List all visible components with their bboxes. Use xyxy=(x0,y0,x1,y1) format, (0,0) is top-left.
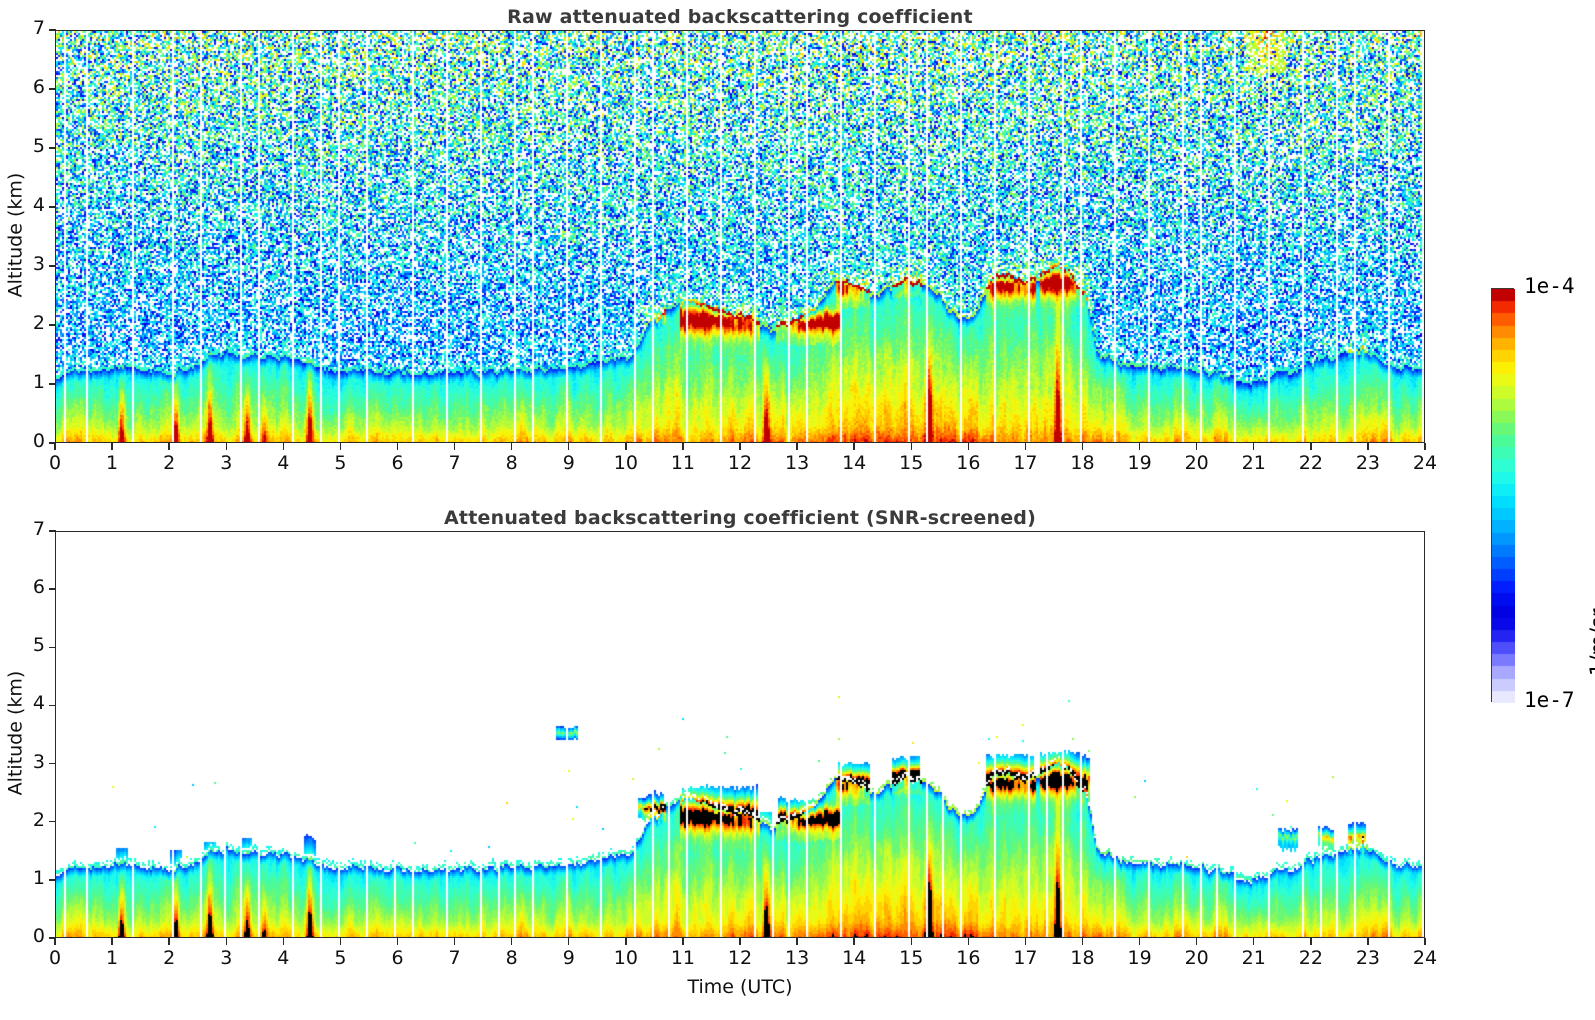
x-tick-mark xyxy=(1424,443,1425,450)
x-tick-label: 6 xyxy=(378,452,418,474)
colorbar[interactable] xyxy=(1491,288,1514,702)
x-tick-mark xyxy=(911,938,912,945)
y-tick-label: 6 xyxy=(11,576,45,598)
x-tick-label: 14 xyxy=(834,947,874,969)
x-tick-mark xyxy=(1310,938,1311,945)
x-tick-mark xyxy=(168,443,169,450)
x-tick-mark xyxy=(397,938,398,945)
x-tick-label: 21 xyxy=(1234,947,1274,969)
panel-title-raw: Raw attenuated backscattering coefficien… xyxy=(55,6,1425,28)
heatmap-panel-screened[interactable] xyxy=(55,531,1425,938)
x-tick-mark xyxy=(1196,938,1197,945)
x-tick-mark xyxy=(54,443,55,450)
x-tick-label: 24 xyxy=(1405,947,1445,969)
x-tick-mark xyxy=(568,938,569,945)
x-tick-mark xyxy=(111,938,112,945)
x-tick-mark xyxy=(511,938,512,945)
colorbar-max-label: 1e-4 xyxy=(1524,274,1575,298)
heatmap-canvas-screened xyxy=(56,532,1425,938)
y-tick-mark xyxy=(49,88,56,89)
x-tick-label: 7 xyxy=(435,947,475,969)
x-tick-mark xyxy=(283,443,284,450)
x-tick-label: 2 xyxy=(149,947,189,969)
y-tick-label: 0 xyxy=(11,430,45,452)
x-tick-mark xyxy=(568,443,569,450)
x-tick-mark xyxy=(682,938,683,945)
x-tick-label: 8 xyxy=(492,947,532,969)
y-tick-label: 2 xyxy=(11,312,45,334)
x-tick-mark xyxy=(1139,443,1140,450)
colorbar-canvas xyxy=(1492,289,1515,703)
x-tick-label: 22 xyxy=(1291,947,1331,969)
x-tick-label: 24 xyxy=(1405,452,1445,474)
x-tick-mark xyxy=(1310,443,1311,450)
heatmap-panel-raw[interactable] xyxy=(55,30,1425,443)
x-tick-mark xyxy=(1196,443,1197,450)
x-tick-label: 23 xyxy=(1348,452,1388,474)
y-tick-label: 7 xyxy=(11,17,45,39)
x-tick-mark xyxy=(796,938,797,945)
x-tick-mark xyxy=(454,443,455,450)
y-tick-mark xyxy=(49,383,56,384)
y-tick-label: 5 xyxy=(11,135,45,157)
x-tick-label: 0 xyxy=(35,947,75,969)
x-tick-label: 11 xyxy=(663,452,703,474)
y-tick-label: 2 xyxy=(11,809,45,831)
colorbar-unit-label: 1/m/sr xyxy=(1586,476,1595,676)
y-tick-label: 3 xyxy=(11,253,45,275)
y-tick-label: 1 xyxy=(11,371,45,393)
x-tick-mark xyxy=(968,443,969,450)
x-tick-label: 15 xyxy=(891,452,931,474)
x-tick-mark xyxy=(853,938,854,945)
y-tick-label: 4 xyxy=(11,692,45,714)
x-tick-label: 13 xyxy=(777,947,817,969)
x-tick-label: 0 xyxy=(35,452,75,474)
x-tick-mark xyxy=(1025,938,1026,945)
x-tick-label: 7 xyxy=(435,452,475,474)
x-tick-mark xyxy=(1424,938,1425,945)
x-tick-label: 22 xyxy=(1291,452,1331,474)
x-tick-mark xyxy=(168,938,169,945)
x-tick-mark xyxy=(226,443,227,450)
x-tick-label: 19 xyxy=(1120,452,1160,474)
x-tick-mark xyxy=(739,938,740,945)
x-tick-label: 17 xyxy=(1005,947,1045,969)
x-tick-mark xyxy=(796,443,797,450)
y-tick-mark xyxy=(49,588,56,589)
x-tick-label: 20 xyxy=(1177,452,1217,474)
x-tick-label: 5 xyxy=(320,947,360,969)
y-tick-mark xyxy=(49,763,56,764)
x-tick-mark xyxy=(911,443,912,450)
x-tick-mark xyxy=(1367,443,1368,450)
panel-title-screened: Attenuated backscattering coefficient (S… xyxy=(55,507,1425,529)
x-tick-mark xyxy=(111,443,112,450)
x-tick-label: 21 xyxy=(1234,452,1274,474)
y-tick-label: 7 xyxy=(11,518,45,540)
y-tick-mark xyxy=(49,206,56,207)
x-tick-label: 18 xyxy=(1063,947,1103,969)
x-tick-label: 8 xyxy=(492,452,532,474)
x-tick-mark xyxy=(625,443,626,450)
x-tick-mark xyxy=(1025,443,1026,450)
y-tick-label: 6 xyxy=(11,76,45,98)
x-tick-label: 19 xyxy=(1120,947,1160,969)
y-tick-mark xyxy=(49,647,56,648)
y-tick-label: 5 xyxy=(11,634,45,656)
x-tick-label: 10 xyxy=(606,947,646,969)
x-tick-label: 11 xyxy=(663,947,703,969)
x-tick-label: 17 xyxy=(1005,452,1045,474)
x-tick-label: 14 xyxy=(834,452,874,474)
colorbar-min-label: 1e-7 xyxy=(1524,688,1575,712)
y-tick-label: 0 xyxy=(11,925,45,947)
x-tick-label: 5 xyxy=(320,452,360,474)
y-tick-mark xyxy=(49,265,56,266)
x-tick-label: 12 xyxy=(720,947,760,969)
x-tick-mark xyxy=(1082,938,1083,945)
x-tick-mark xyxy=(54,938,55,945)
y-tick-mark xyxy=(49,324,56,325)
x-tick-label: 9 xyxy=(549,947,589,969)
figure-root: Raw attenuated backscattering coefficien… xyxy=(0,0,1595,1020)
x-tick-mark xyxy=(1367,938,1368,945)
y-tick-mark xyxy=(49,705,56,706)
x-tick-label: 3 xyxy=(206,452,246,474)
y-tick-mark xyxy=(49,29,56,30)
x-tick-mark xyxy=(340,443,341,450)
x-tick-mark xyxy=(1082,443,1083,450)
x-tick-label: 20 xyxy=(1177,947,1217,969)
x-tick-mark xyxy=(1139,938,1140,945)
x-tick-label: 12 xyxy=(720,452,760,474)
x-tick-label: 9 xyxy=(549,452,589,474)
x-tick-label: 2 xyxy=(149,452,189,474)
x-tick-mark xyxy=(454,938,455,945)
x-tick-mark xyxy=(511,443,512,450)
x-tick-mark xyxy=(739,443,740,450)
x-tick-label: 1 xyxy=(92,947,132,969)
y-tick-label: 4 xyxy=(11,194,45,216)
x-tick-mark xyxy=(397,443,398,450)
x-tick-mark xyxy=(968,938,969,945)
y-tick-mark xyxy=(49,530,56,531)
x-tick-label: 4 xyxy=(263,452,303,474)
x-tick-mark xyxy=(283,938,284,945)
x-tick-mark xyxy=(1253,443,1254,450)
x-tick-label: 13 xyxy=(777,452,817,474)
y-tick-mark xyxy=(49,879,56,880)
x-tick-mark xyxy=(340,938,341,945)
y-tick-mark xyxy=(49,821,56,822)
x-tick-label: 10 xyxy=(606,452,646,474)
x-tick-label: 18 xyxy=(1063,452,1103,474)
y-tick-mark xyxy=(49,147,56,148)
x-tick-mark xyxy=(1253,938,1254,945)
x-tick-mark xyxy=(853,443,854,450)
y-tick-label: 3 xyxy=(11,751,45,773)
x-tick-label: 1 xyxy=(92,452,132,474)
y-tick-label: 1 xyxy=(11,867,45,889)
heatmap-canvas-raw xyxy=(56,31,1425,443)
x-tick-mark xyxy=(625,938,626,945)
x-tick-label: 6 xyxy=(378,947,418,969)
x-tick-label: 3 xyxy=(206,947,246,969)
x-tick-label: 23 xyxy=(1348,947,1388,969)
x-axis-label: Time (UTC) xyxy=(55,976,1425,998)
x-tick-mark xyxy=(226,938,227,945)
x-tick-mark xyxy=(682,443,683,450)
x-tick-label: 16 xyxy=(948,452,988,474)
x-tick-label: 16 xyxy=(948,947,988,969)
x-tick-label: 15 xyxy=(891,947,931,969)
x-tick-label: 4 xyxy=(263,947,303,969)
